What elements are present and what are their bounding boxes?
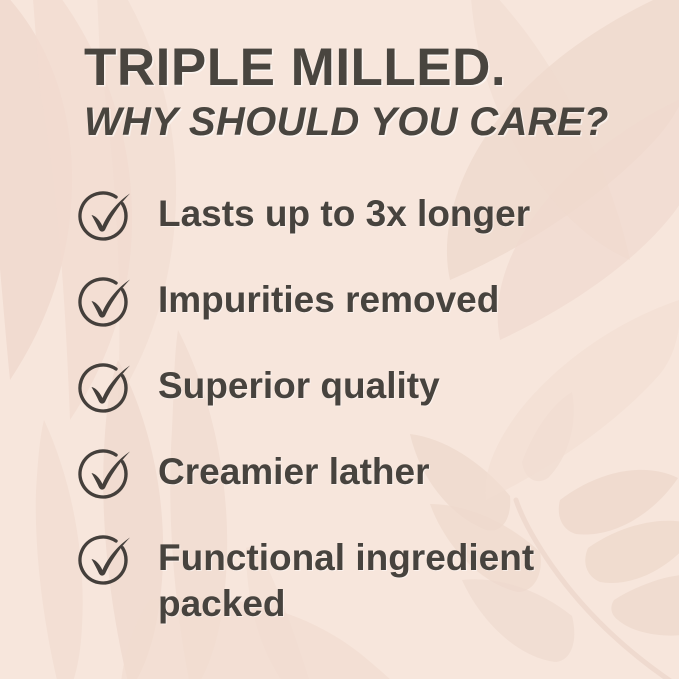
list-item-label: Functional ingredient packed (158, 530, 588, 627)
headline-block: TRIPLE MILLED. WHY SHOULD YOU CARE? (84, 40, 639, 144)
infographic-poster: TRIPLE MILLED. WHY SHOULD YOU CARE? Last… (0, 0, 679, 679)
check-circle-icon (72, 358, 138, 420)
list-item-label: Superior quality (158, 358, 440, 409)
list-item: Functional ingredient packed (72, 530, 645, 627)
list-item: Creamier lather (72, 444, 645, 506)
page-subtitle: WHY SHOULD YOU CARE? (84, 101, 639, 144)
list-item: Superior quality (72, 358, 645, 420)
list-item-label: Impurities removed (158, 272, 499, 323)
check-circle-icon (72, 444, 138, 506)
check-circle-icon (72, 530, 138, 592)
list-item: Impurities removed (72, 272, 645, 334)
page-title: TRIPLE MILLED. (84, 40, 639, 95)
benefit-list: Lasts up to 3x longer Impurities removed (72, 186, 645, 627)
list-item-label: Lasts up to 3x longer (158, 186, 530, 237)
check-circle-icon (72, 186, 138, 248)
check-circle-icon (72, 272, 138, 334)
list-item-label: Creamier lather (158, 444, 429, 495)
poster-content: TRIPLE MILLED. WHY SHOULD YOU CARE? Last… (0, 0, 679, 679)
list-item: Lasts up to 3x longer (72, 186, 645, 248)
